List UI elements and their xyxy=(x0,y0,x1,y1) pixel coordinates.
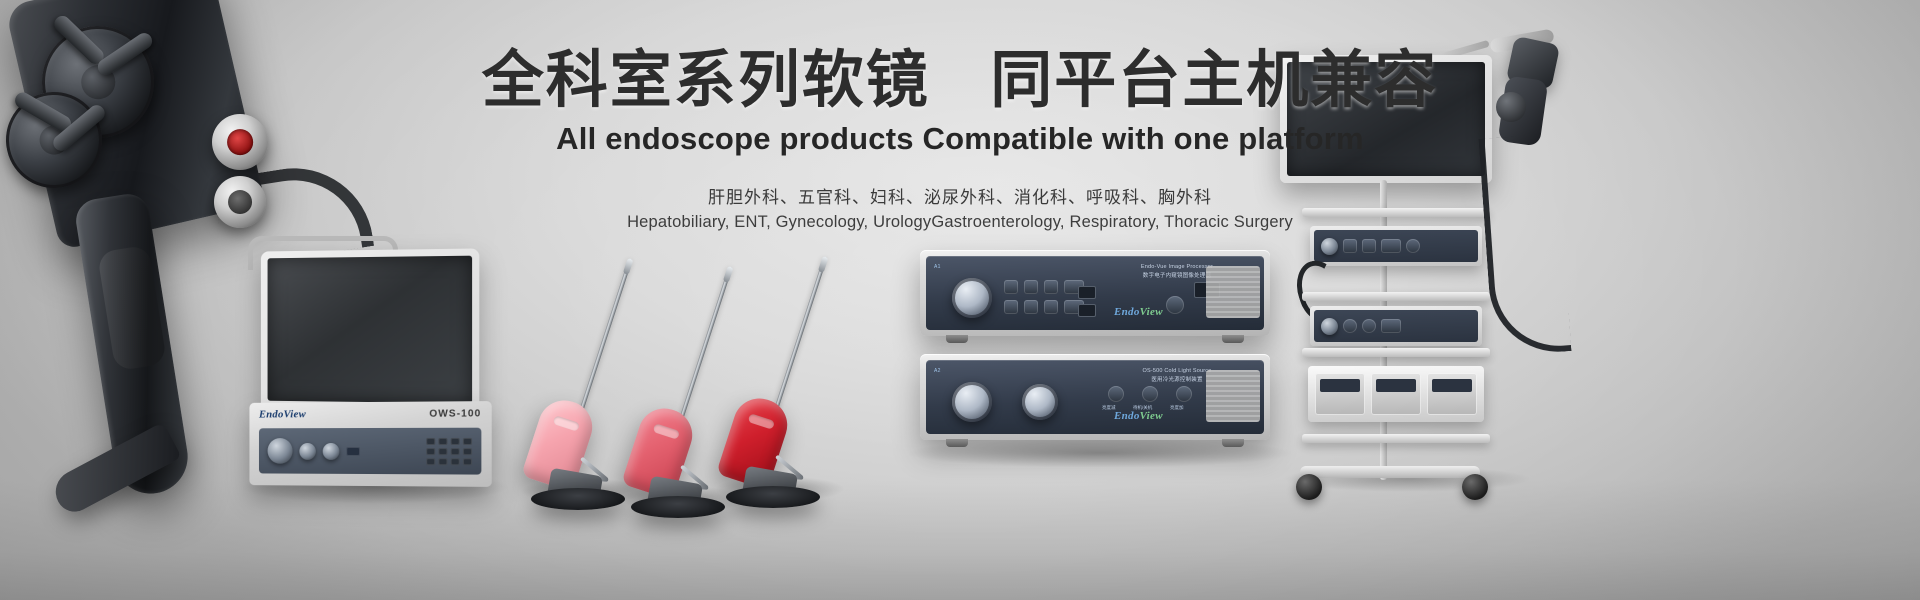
banner-stage: 全科室系列软镜 同平台主机兼容 All endoscope products C… xyxy=(0,0,1920,600)
light-source-brightness-dial[interactable] xyxy=(1022,384,1058,420)
keypad-key[interactable] xyxy=(451,458,460,465)
cart-light-button-wide[interactable] xyxy=(1381,319,1401,333)
camera-head-button[interactable] xyxy=(653,423,681,440)
subtitle-chinese: 肝胆外科、五官科、妇科、泌尿外科、消化科、呼吸科、胸外科 xyxy=(0,183,1920,208)
keypad-key[interactable] xyxy=(463,437,472,444)
processor-button[interactable] xyxy=(1024,300,1038,314)
processor-button-row-top xyxy=(1004,280,1084,294)
cart-shelf xyxy=(1302,292,1490,301)
headline-chinese: 全科室系列软镜 同平台主机兼容 xyxy=(0,48,1920,115)
subtitle-english: Hepatobiliary, ENT, Gynecology, UrologyG… xyxy=(0,213,1920,232)
workstation-main-knob[interactable] xyxy=(268,438,293,464)
cart-caster-wheel xyxy=(1462,474,1488,500)
cart-accessory-unit xyxy=(1427,373,1477,415)
cart-light-knob[interactable] xyxy=(1321,318,1338,335)
processor-button-row-bottom xyxy=(1004,300,1084,314)
product-workstation-ows100: EndoView OWS-100 xyxy=(230,250,500,490)
cart-light-source-unit xyxy=(1310,306,1482,346)
keypad-key[interactable] xyxy=(426,458,435,465)
workstation-control-panel xyxy=(259,428,481,475)
workstation-model-label: OWS-100 xyxy=(429,408,481,419)
processor-power-button[interactable] xyxy=(1166,296,1184,314)
cart-light-button[interactable] xyxy=(1343,319,1357,333)
cart-unit-power[interactable] xyxy=(1406,239,1420,253)
light-source-tag-label: A2 xyxy=(934,368,941,374)
light-source-foot xyxy=(946,439,968,447)
cart-accessory-units xyxy=(1308,366,1484,422)
light-source-title-cn: 医用冷光源控制装置 xyxy=(1151,377,1202,383)
processor-brand-logo: EndoView xyxy=(1114,306,1163,318)
camera-head-button[interactable] xyxy=(748,413,776,430)
rigid-scope-rod-lens xyxy=(768,256,827,428)
cart-shelf xyxy=(1302,348,1490,357)
cart-unit-button[interactable] xyxy=(1362,239,1376,253)
light-source-btn-label-bright: 亮度加 xyxy=(1170,405,1184,411)
processor-panel-title-cn: 数字电子内窥镜图像处理器 xyxy=(1143,273,1211,279)
keypad-key[interactable] xyxy=(451,437,460,444)
cart-base-plate xyxy=(1300,466,1480,478)
workstation-keypad[interactable] xyxy=(426,437,472,464)
cart-unit-button[interactable] xyxy=(1343,239,1357,253)
processor-button[interactable] xyxy=(1004,280,1018,294)
light-source-brand-logo: EndoView xyxy=(1114,410,1163,422)
keypad-key[interactable] xyxy=(451,448,460,455)
processor-button[interactable] xyxy=(1044,300,1058,314)
keypad-key[interactable] xyxy=(463,458,472,465)
processor-tag-label: A1 xyxy=(934,264,941,270)
processor-button[interactable] xyxy=(1024,280,1038,294)
workstation-knob-2[interactable] xyxy=(299,443,316,460)
product-processor-stack: A1 Endo-Vue Image Processor 数字电子内窥镜图像处理器 xyxy=(920,250,1280,450)
light-source-vent-grille xyxy=(1206,370,1260,422)
display-stand xyxy=(726,486,820,508)
light-source-btn-dim[interactable] xyxy=(1108,386,1124,402)
cart-processor-unit xyxy=(1310,226,1482,266)
keypad-key[interactable] xyxy=(426,437,435,444)
cart-unit-button-wide[interactable] xyxy=(1381,239,1401,253)
processor-image-unit: A1 Endo-Vue Image Processor 数字电子内窥镜图像处理器 xyxy=(920,250,1270,336)
processor-vent-grille xyxy=(1206,266,1260,318)
keypad-key[interactable] xyxy=(463,448,472,455)
processor-button[interactable] xyxy=(1004,300,1018,314)
cart-light-source-panel xyxy=(1314,310,1478,342)
light-source-scope-socket[interactable] xyxy=(952,382,992,422)
product-camera-head-red xyxy=(700,248,850,488)
cart-processor-panel xyxy=(1314,230,1478,262)
headline-cn-part2: 同平台主机兼容 xyxy=(990,46,1438,115)
camera-head-button[interactable] xyxy=(553,415,581,432)
keypad-key[interactable] xyxy=(426,448,435,455)
cart-accessory-unit xyxy=(1371,373,1421,415)
keypad-key[interactable] xyxy=(438,448,447,455)
processor-usb-port[interactable] xyxy=(1078,286,1096,299)
headline-english: All endoscope products Compatible with o… xyxy=(0,121,1920,157)
cart-accessory-unit xyxy=(1315,373,1365,415)
workstation-base-unit: EndoView OWS-100 xyxy=(249,401,491,487)
processor-foot xyxy=(1222,335,1244,343)
cart-shelf xyxy=(1302,434,1490,443)
workstation-screen-glass xyxy=(268,256,473,404)
headline-cn-part1: 全科室系列软镜 xyxy=(482,46,930,115)
cart-unit-knob[interactable] xyxy=(1321,238,1338,255)
light-source-btn-standby[interactable] xyxy=(1142,386,1158,402)
processor-main-dial[interactable] xyxy=(952,278,992,318)
workstation-brand-row: EndoView OWS-100 xyxy=(259,407,481,420)
workstation-display xyxy=(261,248,479,411)
light-source-title-en: OS-500 Cold Light Source xyxy=(1142,368,1211,374)
processor-button[interactable] xyxy=(1044,280,1058,294)
workstation-knob-3[interactable] xyxy=(323,443,340,460)
keypad-key[interactable] xyxy=(438,458,447,465)
processor-foot xyxy=(946,335,968,343)
keypad-key[interactable] xyxy=(438,437,447,444)
light-source-foot xyxy=(1222,439,1244,447)
workstation-connector-port xyxy=(346,446,360,455)
banner-copy: 全科室系列软镜 同平台主机兼容 All endoscope products C… xyxy=(0,48,1920,232)
processor-panel-title-en: Endo-Vue Image Processor xyxy=(1141,264,1213,270)
workstation-brand-logo: EndoView xyxy=(259,408,306,420)
cart-caster-wheel xyxy=(1296,474,1322,500)
processor-video-port[interactable] xyxy=(1078,304,1096,317)
processor-light-source-unit: A2 OS-500 Cold Light Source 医用冷光源控制装置 亮度… xyxy=(920,354,1270,440)
light-source-btn-bright[interactable] xyxy=(1176,386,1192,402)
display-stand xyxy=(631,496,725,518)
cart-light-button[interactable] xyxy=(1362,319,1376,333)
